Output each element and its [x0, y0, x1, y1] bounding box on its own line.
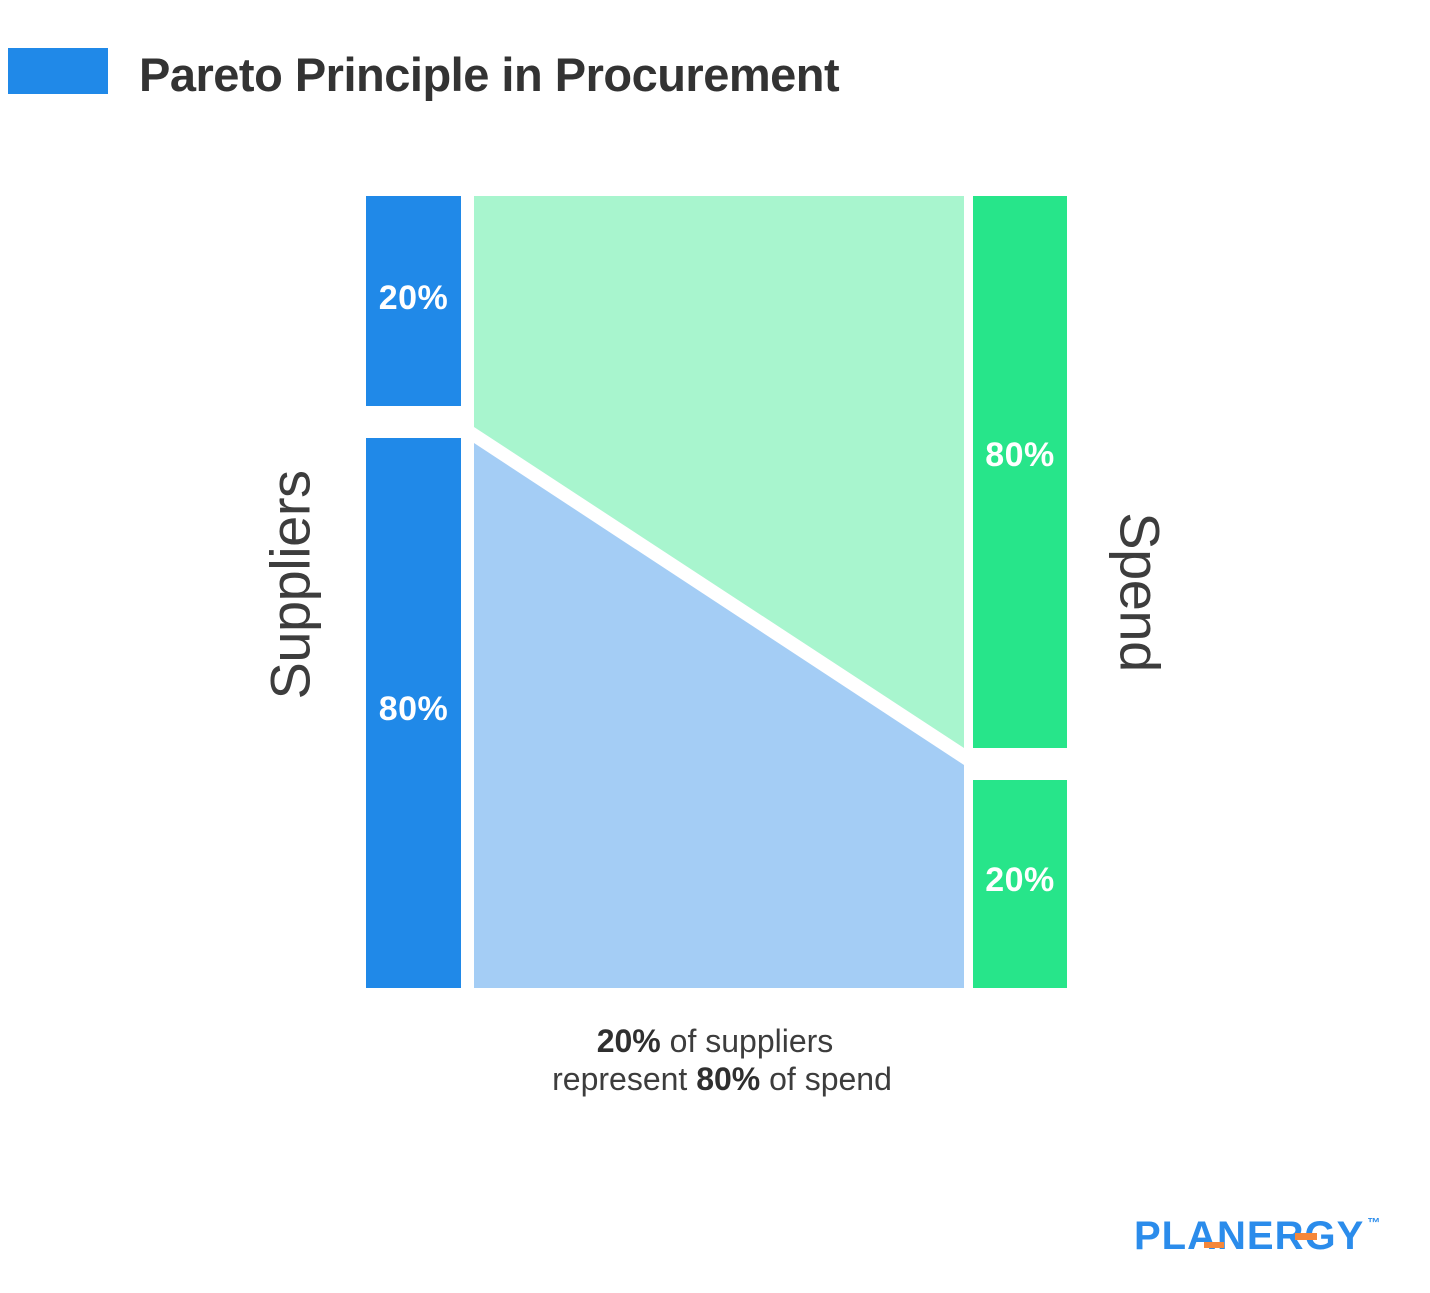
logo-accent-a-bar: [1204, 1242, 1224, 1248]
spend-bar-20-label: 20%: [973, 861, 1067, 900]
caption: 20% of suppliers represent 80% of spend: [0, 1022, 1430, 1098]
pareto-diagram: 20% 80% 80% 20% Suppliers Spend 20% of s…: [0, 0, 1430, 1293]
trademark-symbol: ™: [1367, 1216, 1381, 1229]
caption-bold-80: 80%: [696, 1061, 760, 1097]
flow-ribbons: [0, 0, 1430, 1293]
caption-line-2-rest: of spend: [760, 1061, 892, 1097]
axis-label-suppliers: Suppliers: [258, 471, 323, 700]
spend-bar-20-percent: 20%: [973, 780, 1067, 988]
spend-bar-80-label: 80%: [973, 436, 1067, 475]
suppliers-bar-80-percent: 80%: [366, 438, 461, 988]
planergy-logo[interactable]: PLANERGY ™: [1134, 1214, 1364, 1258]
flow-blue-80-suppliers-to-20-spend: [474, 443, 964, 988]
planergy-wordmark: PLANERGY ™: [1134, 1214, 1364, 1258]
axis-label-spend: Spend: [1108, 512, 1173, 671]
caption-line-2-pre: represent: [552, 1061, 696, 1097]
flow-green-20-suppliers-to-80-spend: [474, 196, 964, 748]
suppliers-bar-80-label: 80%: [366, 690, 461, 729]
caption-line-1: 20% of suppliers: [0, 1022, 1430, 1060]
suppliers-bar-20-percent: 20%: [366, 196, 461, 406]
planergy-wordmark-text: PLANERGY: [1134, 1214, 1364, 1258]
logo-accent-g-bar: [1295, 1233, 1317, 1240]
caption-bold-20: 20%: [597, 1023, 661, 1059]
caption-line-1-rest: of suppliers: [661, 1023, 834, 1059]
spend-bar-80-percent: 80%: [973, 196, 1067, 748]
suppliers-bar-20-label: 20%: [366, 279, 461, 318]
caption-line-2: represent 80% of spend: [0, 1060, 1430, 1098]
